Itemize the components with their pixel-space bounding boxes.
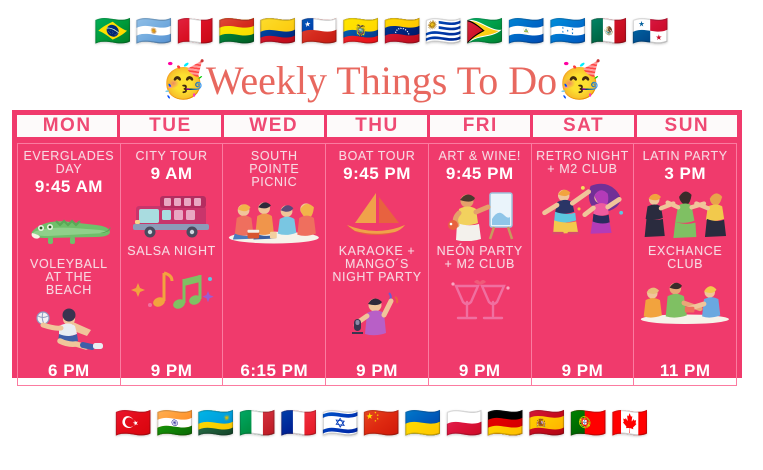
calendar-header-thu[interactable]: THU <box>327 115 427 137</box>
flag-peru-icon: 🇵🇪 <box>177 17 214 47</box>
volleyball-player-illustration <box>21 300 117 356</box>
flag-chile-icon: 🇨🇱 <box>301 17 338 47</box>
alligator-illustration <box>21 200 117 256</box>
flag-brazil-icon: 🇧🇷 <box>94 17 131 47</box>
event-time-morning: 9:45 AM <box>35 176 103 197</box>
event-time-morning: 9 AM <box>151 163 193 184</box>
event-time-evening: 9 PM <box>562 358 604 381</box>
calendar-day-sun[interactable]: LATIN PARTY3 PM EXCHANCE CLUB 11 PM <box>633 143 737 386</box>
flag-nicaragua-icon: 🇳🇮 <box>508 17 545 47</box>
event-time-evening: 6 PM <box>48 358 90 381</box>
flag-india-icon: 🇮🇳 <box>156 409 193 439</box>
event-title-morning: ART & WINE! <box>438 150 521 163</box>
wine-glasses-toast-illustration <box>432 274 528 330</box>
latin-dancers-illustration <box>637 187 733 243</box>
event-title-evening: NEÓN PARTY + M2 CLUB <box>432 245 528 271</box>
flag-honduras-icon: 🇭🇳 <box>549 17 586 47</box>
flag-turkey-icon: 🇹🇷 <box>115 409 152 439</box>
event-title-morning: EVERGLADES DAY <box>21 150 117 176</box>
retro-dancers-illustration <box>535 179 631 235</box>
event-title-evening: EXCHANCE CLUB <box>637 245 733 271</box>
event-title-evening: KARAOKE + MANGO´S NIGHT PARTY <box>329 245 425 284</box>
calendar-header-tue[interactable]: TUE <box>120 115 220 137</box>
picnic-group-illustration <box>226 192 322 248</box>
flag-argentina-icon: 🇦🇷 <box>135 17 172 47</box>
painter-easel-illustration <box>432 187 528 243</box>
flag-poland-icon: 🇵🇱 <box>446 409 483 439</box>
calendar-day-thu[interactable]: BOAT TOUR9:45 PM KARAOKE + MANGO´S NIGHT… <box>325 143 428 386</box>
flag-strip-bottom: 🇹🇷🇮🇳🇷🇼🇮🇹🇫🇷🇮🇱🇨🇳🇺🇦🇵🇱🇩🇪🇪🇸🇵🇹🇨🇦 <box>0 400 763 448</box>
event-title-morning: RETRO NIGHT + M2 CLUB <box>535 150 631 176</box>
calendar-header-fri[interactable]: FRI <box>430 115 530 137</box>
flag-uruguay-icon: 🇺🇾 <box>425 17 462 47</box>
calendar-day-fri[interactable]: ART & WINE!9:45 PM NEÓN PARTY + M2 CLUB … <box>428 143 531 386</box>
event-time-evening: 6:15 PM <box>240 358 308 381</box>
poster-root: 🇧🇷🇦🇷🇵🇪🇧🇴🇨🇴🇨🇱🇪🇨🇻🇪🇺🇾🇬🇾🇳🇮🇭🇳🇲🇽🇵🇦 🥳 Weekly Th… <box>0 0 763 470</box>
flag-france-icon: 🇫🇷 <box>280 409 317 439</box>
event-time-evening: 9 PM <box>459 358 501 381</box>
page-title-text: Weekly Things To Do <box>206 59 557 103</box>
party-face-icon-right: 🥳 <box>557 63 602 99</box>
flag-venezuela-icon: 🇻🇪 <box>384 17 421 47</box>
calendar-day-tue[interactable]: CITY TOUR9 AM SALSA NIGHT 9 PM <box>120 143 223 386</box>
calendar-header-row: MONTUEWEDTHUFRISATSUN <box>17 115 737 137</box>
flag-canada-icon: 🇨🇦 <box>611 409 648 439</box>
flag-guyana-icon: 🇬🇾 <box>466 17 503 47</box>
calendar-day-sat[interactable]: RETRO NIGHT + M2 CLUB 9 PM <box>531 143 634 386</box>
double-decker-bus-illustration <box>124 187 220 243</box>
event-time-morning: 3 PM <box>664 163 706 184</box>
event-title-evening: SALSA NIGHT <box>127 245 216 258</box>
event-time-evening: 11 PM <box>660 358 711 381</box>
calendar-day-mon[interactable]: EVERGLADES DAY9:45 AM VOLEYBALL AT THE B… <box>17 143 120 386</box>
event-title-morning: BOAT TOUR <box>339 150 416 163</box>
flag-italy-icon: 🇮🇹 <box>239 409 276 439</box>
group-friends-illustration <box>637 274 733 330</box>
party-face-icon-left: 🥳 <box>161 63 206 99</box>
event-time-morning: 9:45 PM <box>343 163 411 184</box>
calendar-header-mon[interactable]: MON <box>17 115 117 137</box>
flag-rwanda-icon: 🇷🇼 <box>197 409 234 439</box>
calendar-header-wed[interactable]: WED <box>224 115 324 137</box>
calendar-header-sat[interactable]: SAT <box>533 115 633 137</box>
event-title-evening: VOLEYBALL AT THE BEACH <box>21 258 117 297</box>
flag-spain-icon: 🇪🇸 <box>528 409 565 439</box>
weekly-calendar: MONTUEWEDTHUFRISATSUN EVERGLADES DAY9:45… <box>12 110 742 378</box>
event-title-morning: LATIN PARTY <box>643 150 728 163</box>
flag-china-icon: 🇨🇳 <box>363 409 400 439</box>
flag-bolivia-icon: 🇧🇴 <box>218 17 255 47</box>
event-time-evening: 9 PM <box>151 358 193 381</box>
page-title: 🥳 Weekly Things To Do 🥳 <box>0 57 763 105</box>
flag-panama-icon: 🇵🇦 <box>632 17 669 47</box>
calendar-day-wed[interactable]: SOUTH POINTE PICNIC 6:15 PM <box>222 143 325 386</box>
event-time-evening: 9 PM <box>356 358 398 381</box>
music-notes-illustration <box>124 261 220 317</box>
karaoke-singer-illustration <box>329 287 425 343</box>
calendar-body-row: EVERGLADES DAY9:45 AM VOLEYBALL AT THE B… <box>17 143 737 386</box>
event-title-morning: CITY TOUR <box>136 150 208 163</box>
flag-ukraine-icon: 🇺🇦 <box>404 409 441 439</box>
flag-mexico-icon: 🇲🇽 <box>590 17 627 47</box>
sailboat-illustration <box>329 187 425 243</box>
flag-israel-icon: 🇮🇱 <box>321 409 358 439</box>
flag-strip-top: 🇧🇷🇦🇷🇵🇪🇧🇴🇨🇴🇨🇱🇪🇨🇻🇪🇺🇾🇬🇾🇳🇮🇭🇳🇲🇽🇵🇦 <box>0 8 763 56</box>
event-time-morning: 9:45 PM <box>446 163 514 184</box>
event-title-morning: SOUTH POINTE PICNIC <box>226 150 322 189</box>
flag-portugal-icon: 🇵🇹 <box>570 409 607 439</box>
flag-ecuador-icon: 🇪🇨 <box>342 17 379 47</box>
flag-colombia-icon: 🇨🇴 <box>259 17 296 47</box>
calendar-header-sun[interactable]: SUN <box>637 115 737 137</box>
flag-germany-icon: 🇩🇪 <box>487 409 524 439</box>
